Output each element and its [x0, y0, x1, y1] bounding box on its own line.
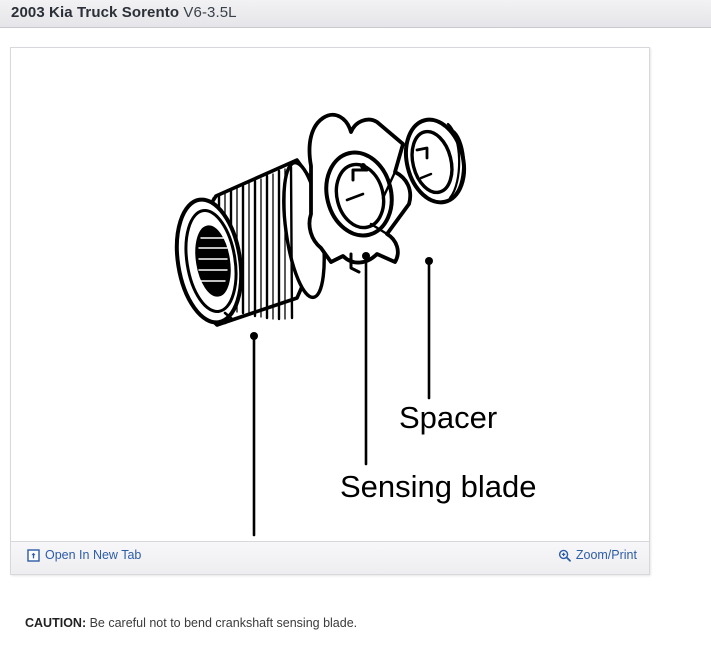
caution-word: CAUTION: — [25, 616, 86, 630]
diagram-label-sensing-blade: Sensing blade — [340, 469, 537, 504]
diagram-panel: Spacer Sensing blade Crankshaft sprocket… — [10, 47, 650, 575]
caution-note: CAUTION: Be careful not to bend cranksha… — [25, 616, 357, 630]
open-in-new-tab-label: Open In New Tab — [45, 549, 141, 562]
diagram-toolbar: Open In New Tab Zoom/Print — [11, 541, 649, 574]
zoom-print-button[interactable]: Zoom/Print — [558, 549, 637, 562]
open-in-new-tab-button[interactable]: Open In New Tab — [27, 549, 141, 562]
page-title: 2003 Kia Truck Sorento V6-3.5L — [11, 4, 237, 21]
part-crankshaft-sprocket — [169, 160, 332, 327]
caution-text: Be careful not to bend crankshaft sensin… — [90, 616, 358, 630]
engine-name: V6-3.5L — [183, 4, 236, 21]
zoom-print-label: Zoom/Print — [576, 549, 637, 562]
diagram-label-spacer: Spacer — [399, 400, 497, 435]
part-sensing-blade — [309, 115, 410, 272]
open-in-new-window-icon — [27, 549, 40, 562]
magnifier-plus-icon — [558, 549, 571, 562]
diagram-image[interactable]: Spacer Sensing blade Crankshaft sprocket — [11, 48, 649, 541]
vehicle-name: 2003 Kia Truck Sorento — [11, 4, 179, 21]
page-header-bar: 2003 Kia Truck Sorento V6-3.5L — [0, 0, 711, 28]
